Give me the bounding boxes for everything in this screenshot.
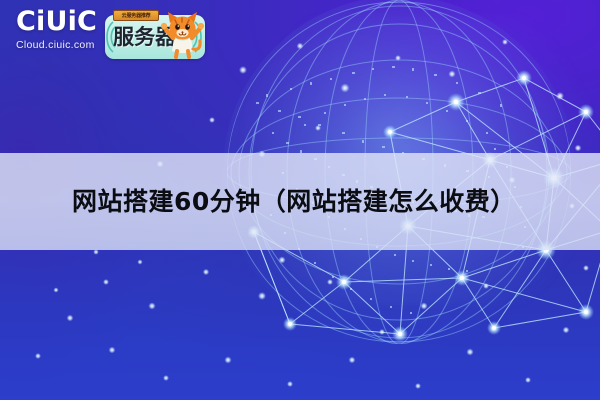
brand-domain: Cloud.ciuic.com bbox=[16, 40, 97, 51]
badge-ribbon: 云服务器推荐 bbox=[113, 10, 159, 21]
brand-logo-group[interactable]: CiUiC Cloud.ciuic.com 云服务器推荐 服务器 bbox=[16, 6, 205, 59]
badge-ribbon-label: 云服务器推荐 bbox=[122, 12, 151, 19]
page-title: 网站搭建60分钟（网站搭建怎么收费） bbox=[72, 189, 516, 214]
brand-text-group: CiUiC Cloud.ciuic.com bbox=[16, 6, 97, 51]
banner-image: CiUiC Cloud.ciuic.com 云服务器推荐 服务器 bbox=[0, 0, 600, 400]
title-overlay-band: 网站搭建60分钟（网站搭建怎么收费） bbox=[0, 153, 600, 250]
server-badge[interactable]: 云服务器推荐 服务器 bbox=[105, 15, 205, 59]
orange-cat-mascot-icon bbox=[161, 7, 207, 59]
brand-name: CiUiC bbox=[16, 8, 97, 35]
